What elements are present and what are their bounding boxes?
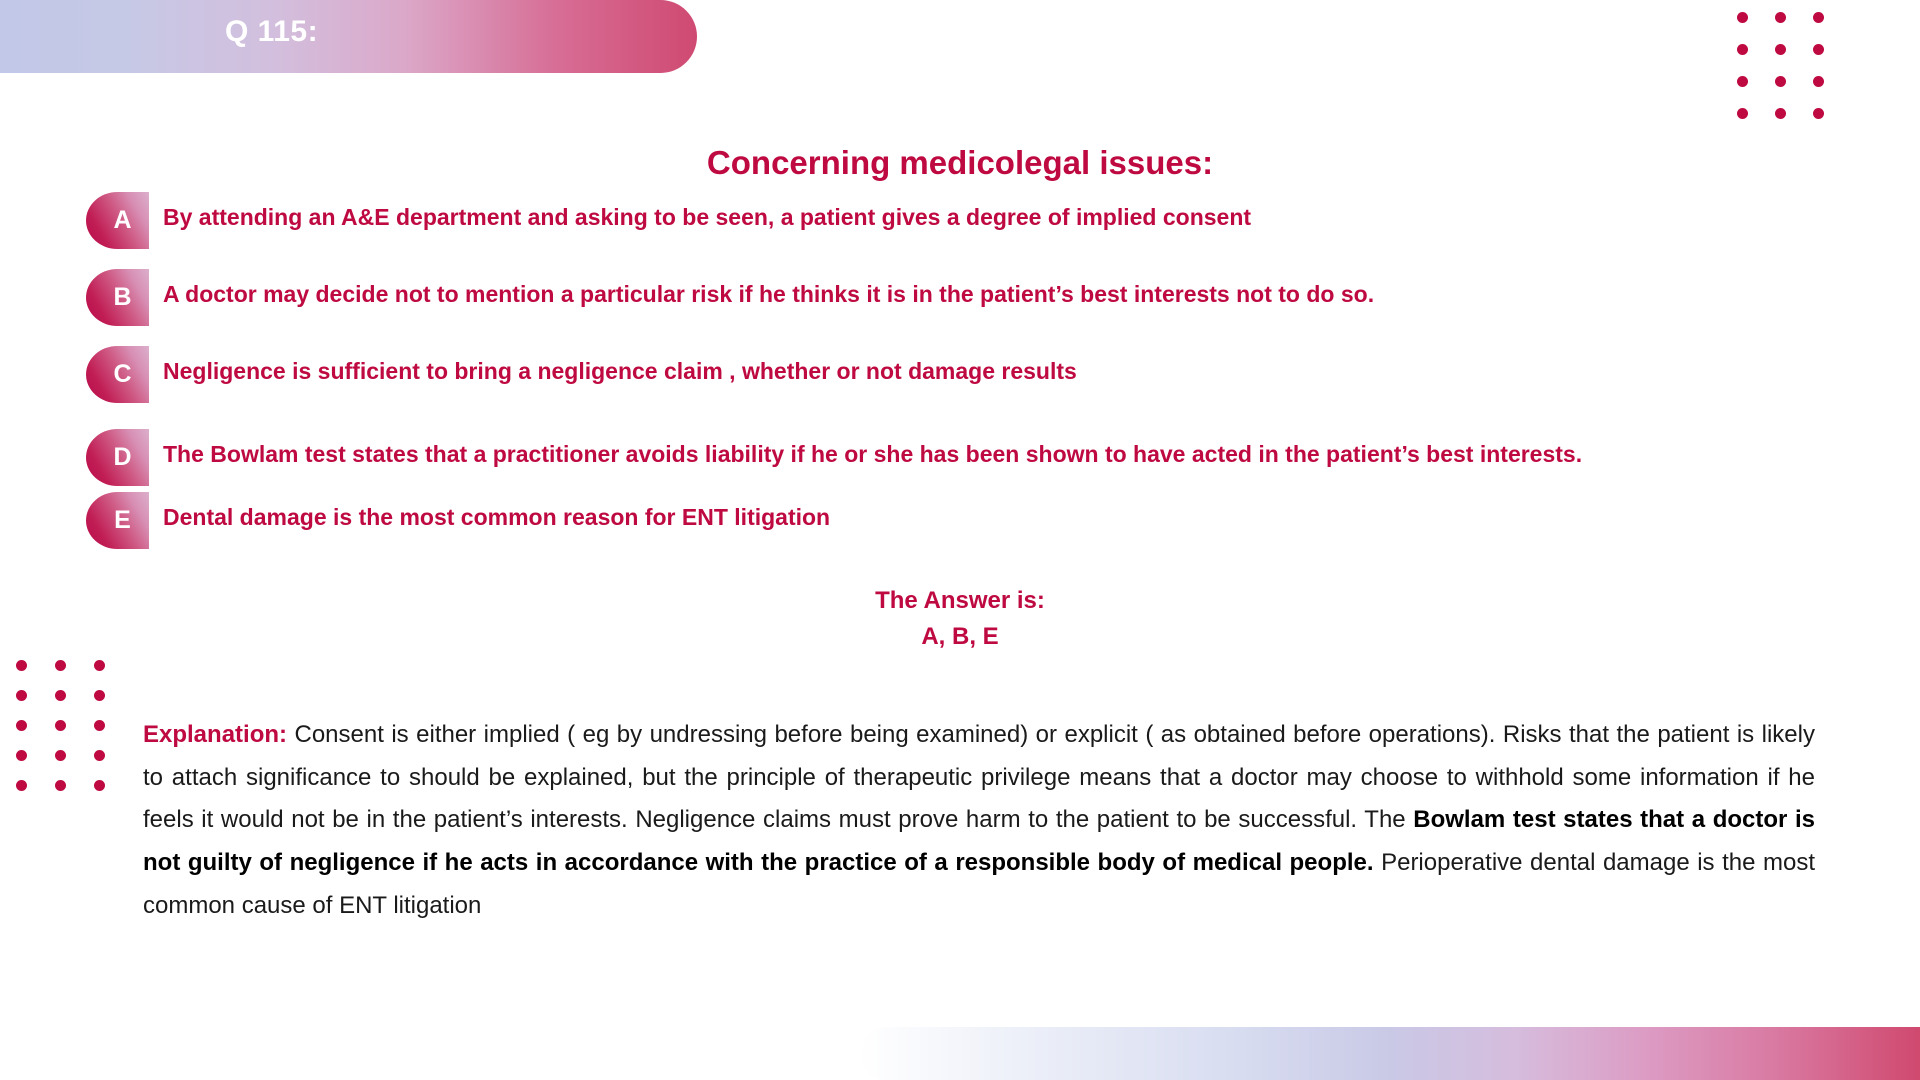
- dot-icon: [55, 690, 66, 701]
- option-text-c: Negligence is sufficient to bring a negl…: [163, 356, 1846, 387]
- dot-icon: [1775, 108, 1786, 119]
- dot-icon: [1737, 76, 1748, 87]
- option-badge-a: A: [86, 192, 149, 249]
- option-text-e: Dental damage is the most common reason …: [163, 502, 1846, 533]
- dot-icon: [16, 780, 27, 791]
- page-title: Concerning medicolegal issues:: [0, 144, 1920, 182]
- dot-icon: [94, 750, 105, 761]
- dot-icon: [55, 720, 66, 731]
- option-badge-d: D: [86, 429, 149, 486]
- dot-icon: [94, 690, 105, 701]
- answer-block: The Answer is: A, B, E: [0, 583, 1920, 655]
- option-badge-b: B: [86, 269, 149, 326]
- header-banner: Q 115:: [0, 0, 697, 73]
- option-badge-e: E: [86, 492, 149, 549]
- answer-value: A, B, E: [0, 619, 1920, 655]
- explanation-label: Explanation:: [143, 721, 287, 748]
- options-list: A By attending an A&E department and ask…: [86, 192, 1846, 569]
- answer-label: The Answer is:: [0, 583, 1920, 619]
- footer-banner: [860, 1027, 1920, 1080]
- option-row-e[interactable]: E Dental damage is the most common reaso…: [86, 492, 1846, 549]
- dot-icon: [1775, 12, 1786, 23]
- dot-icon: [1737, 12, 1748, 23]
- dot-icon: [16, 690, 27, 701]
- dot-icon: [55, 780, 66, 791]
- dot-grid-left-icon: [16, 660, 105, 791]
- dot-icon: [16, 660, 27, 671]
- question-number-label: Q 115:: [225, 15, 318, 49]
- dot-icon: [1813, 108, 1824, 119]
- dot-icon: [1737, 44, 1748, 55]
- dot-icon: [1775, 44, 1786, 55]
- dot-icon: [16, 750, 27, 761]
- dot-icon: [1775, 76, 1786, 87]
- dot-icon: [55, 750, 66, 761]
- explanation-paragraph: Explanation: Consent is either implied (…: [143, 714, 1815, 928]
- dot-icon: [94, 660, 105, 671]
- option-row-b[interactable]: B A doctor may decide not to mention a p…: [86, 269, 1846, 326]
- dot-icon: [94, 780, 105, 791]
- dot-icon: [1813, 12, 1824, 23]
- option-badge-c: C: [86, 346, 149, 403]
- dot-grid-top-right-icon: [1737, 12, 1824, 119]
- dot-icon: [1813, 76, 1824, 87]
- dot-icon: [1813, 44, 1824, 55]
- option-row-c[interactable]: C Negligence is sufficient to bring a ne…: [86, 346, 1846, 403]
- option-text-b: A doctor may decide not to mention a par…: [163, 279, 1846, 310]
- option-row-a[interactable]: A By attending an A&E department and ask…: [86, 192, 1846, 249]
- dot-icon: [55, 660, 66, 671]
- dot-icon: [16, 720, 27, 731]
- dot-icon: [94, 720, 105, 731]
- option-text-a: By attending an A&E department and askin…: [163, 202, 1846, 233]
- option-row-d[interactable]: D The Bowlam test states that a practiti…: [86, 429, 1846, 486]
- option-text-d: The Bowlam test states that a practition…: [163, 439, 1846, 470]
- dot-icon: [1737, 108, 1748, 119]
